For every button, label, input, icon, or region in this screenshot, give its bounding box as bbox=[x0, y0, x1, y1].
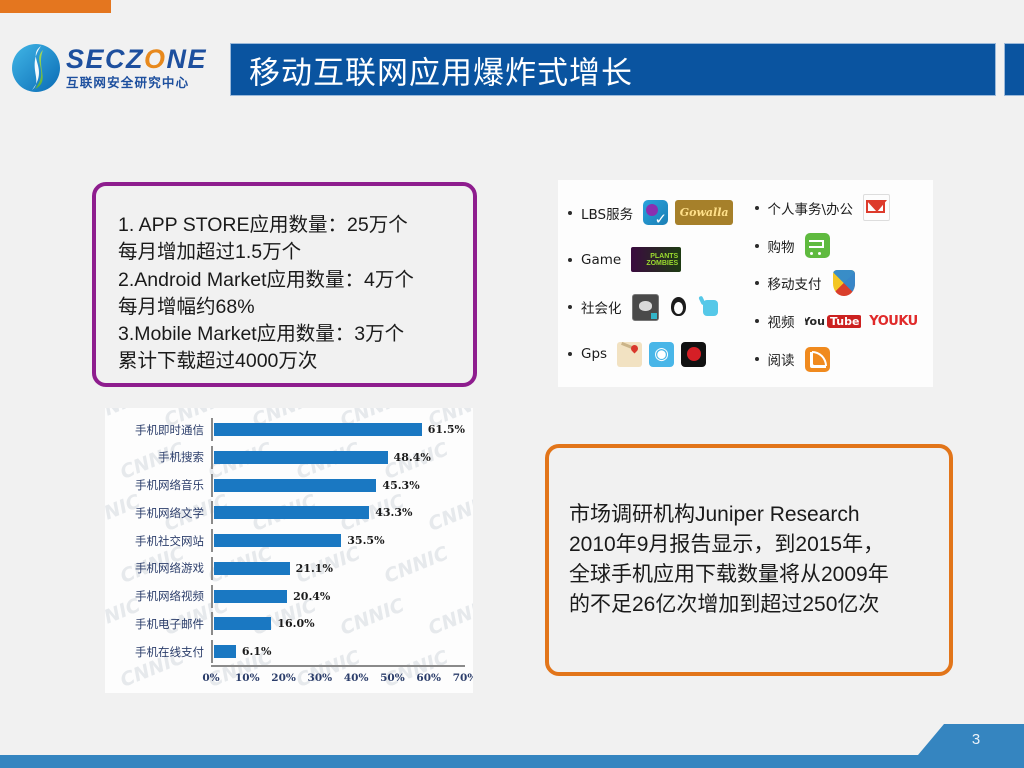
chart-bar-row: 手机网络文学43.3% bbox=[113, 501, 465, 524]
mobile-app-usage-chart: CNNICCNNICCNNICCNNICCNNICCNNICCNNICCNNIC… bbox=[105, 408, 473, 693]
rss-feed-icon bbox=[805, 347, 830, 372]
dianping-icon bbox=[681, 342, 706, 367]
app-category-left-column: LBS服务 Gowalla Game PLANTSZOMBIES 社会化 Gps… bbox=[568, 189, 741, 378]
shazam-glyph: ◉ bbox=[654, 346, 669, 363]
bullet-icon bbox=[755, 206, 759, 210]
plants-vs-zombies-icon: PLANTSZOMBIES bbox=[631, 247, 681, 272]
page-number: 3 bbox=[962, 731, 980, 748]
chart-category-label: 手机在线支付 bbox=[113, 644, 211, 660]
qq-penguin-icon bbox=[666, 295, 691, 320]
pvz-line2: ZOMBIES bbox=[646, 260, 678, 267]
stats-line: 1. APP STORE应用数量：25万个 bbox=[118, 212, 455, 239]
chart-x-tick: 70% bbox=[453, 672, 473, 684]
chart-bar-row: 手机网络游戏21.1% bbox=[113, 557, 465, 580]
app-category-row-reading: 阅读 bbox=[755, 342, 928, 376]
chart-bar bbox=[214, 423, 422, 436]
chart-bar-row: 手机网络视频20.4% bbox=[113, 585, 465, 608]
gowalla-logo: Gowalla bbox=[675, 200, 733, 225]
jiepang-robot-icon bbox=[698, 295, 723, 320]
bullet-icon bbox=[755, 357, 759, 361]
chart-plot-area: 手机即时通信61.5%手机搜索48.4%手机网络音乐45.3%手机网络文学43.… bbox=[113, 416, 465, 665]
chart-category-label: 手机网络音乐 bbox=[113, 477, 211, 493]
youku-logo: YOUKU bbox=[868, 309, 920, 334]
chart-bar-row: 手机在线支付6.1% bbox=[113, 640, 465, 663]
chart-value-label: 6.1% bbox=[242, 645, 272, 658]
quote-line: 的不足26亿次增加到超过250亿次 bbox=[569, 590, 889, 620]
chart-bar-track: 21.1% bbox=[211, 557, 465, 580]
chart-bar bbox=[214, 451, 388, 464]
bullet-icon bbox=[755, 281, 759, 285]
page-title: 移动互联网应用爆炸式增长 bbox=[249, 47, 633, 92]
chart-bar-track: 6.1% bbox=[211, 640, 465, 663]
gmail-icon bbox=[863, 194, 890, 221]
chart-bar bbox=[214, 506, 369, 519]
chart-value-label: 20.4% bbox=[293, 590, 330, 603]
chart-x-tick: 10% bbox=[235, 672, 260, 684]
chart-bar-row: 手机搜索48.4% bbox=[113, 446, 465, 469]
chart-bar-track: 35.5% bbox=[211, 529, 465, 552]
bullet-icon bbox=[755, 319, 759, 323]
chart-category-label: 手机网络视频 bbox=[113, 588, 211, 604]
map-pin-icon bbox=[617, 342, 642, 367]
wordmark-part1: SECZ bbox=[66, 44, 144, 74]
bullet-icon bbox=[755, 244, 759, 248]
footer-bar bbox=[0, 755, 1024, 768]
app-category-label: Gps bbox=[581, 346, 607, 362]
app-category-row-lbs: LBS服务 Gowalla bbox=[568, 196, 741, 230]
pvz-line1: PLANTS bbox=[646, 253, 678, 260]
chart-category-label: 手机网络游戏 bbox=[113, 560, 211, 576]
app-category-label: 视频 bbox=[768, 311, 795, 331]
seczone-swirl-icon bbox=[10, 41, 62, 95]
chart-bar-track: 45.3% bbox=[211, 474, 465, 497]
chart-category-label: 手机电子邮件 bbox=[113, 616, 211, 632]
quote-text-block: 市场调研机构Juniper Research 2010年9月报告显示，到2015… bbox=[569, 500, 889, 619]
chart-value-label: 16.0% bbox=[277, 617, 314, 630]
app-category-row-payment: 移动支付 bbox=[755, 266, 928, 300]
chart-category-label: 手机网络文学 bbox=[113, 505, 211, 521]
youtube-logo: YouTube bbox=[805, 309, 861, 334]
chart-category-label: 手机即时通信 bbox=[113, 422, 211, 438]
chart-bar-row: 手机社交网站35.5% bbox=[113, 529, 465, 552]
bullet-icon bbox=[568, 305, 572, 309]
page-number-tab: 3 bbox=[918, 724, 1024, 755]
chart-category-label: 手机社交网站 bbox=[113, 533, 211, 549]
quote-line: 全球手机应用下载数量将从2009年 bbox=[569, 560, 889, 590]
app-category-label: 阅读 bbox=[768, 349, 795, 369]
chart-x-tick: 20% bbox=[271, 672, 296, 684]
header-right-accent-block bbox=[1004, 43, 1024, 96]
chart-bar-track: 48.4% bbox=[211, 446, 465, 469]
chart-bar bbox=[214, 590, 287, 603]
chart-bar-track: 61.5% bbox=[211, 418, 465, 441]
wordmark-part2: NE bbox=[167, 44, 208, 74]
app-category-right-column: 个人事务\办公 购物 移动支付 视频 YouTube YOUKU 阅读 bbox=[741, 189, 928, 378]
app-category-label: LBS服务 bbox=[581, 203, 633, 223]
wordmark-accent-o: O bbox=[144, 44, 167, 74]
app-category-label: Game bbox=[581, 252, 621, 268]
shopping-cart-icon bbox=[805, 233, 830, 258]
shazam-icon: ◉ bbox=[649, 342, 674, 367]
app-category-row-video: 视频 YouTube YOUKU bbox=[755, 304, 928, 338]
app-category-panel: LBS服务 Gowalla Game PLANTSZOMBIES 社会化 Gps… bbox=[558, 180, 933, 387]
seczone-wordmark: SECZONE bbox=[66, 46, 207, 73]
youtube-tube-text: Tube bbox=[827, 315, 861, 328]
chart-value-label: 45.3% bbox=[382, 479, 419, 492]
foursquare-icon bbox=[643, 200, 668, 225]
seczone-logo: SECZONE 互联网安全研究中心 bbox=[10, 39, 222, 97]
stats-line: 累计下载超过4000万次 bbox=[118, 348, 455, 375]
app-category-label: 移动支付 bbox=[768, 273, 822, 293]
stats-line: 2.Android Market应用数量：4万个 bbox=[118, 267, 455, 294]
chart-bar bbox=[214, 645, 236, 658]
app-category-row-social: 社会化 bbox=[568, 290, 741, 324]
chart-x-tick: 40% bbox=[344, 672, 369, 684]
chart-bar-track: 20.4% bbox=[211, 585, 465, 608]
chart-bar bbox=[214, 479, 376, 492]
bullet-icon bbox=[568, 211, 572, 215]
chart-bar-row: 手机即时通信61.5% bbox=[113, 418, 465, 441]
quote-line: 市场调研机构Juniper Research bbox=[569, 500, 889, 530]
chart-value-label: 48.4% bbox=[394, 451, 431, 464]
app-category-row-gps: Gps ◉ bbox=[568, 337, 741, 371]
chart-value-label: 35.5% bbox=[347, 534, 384, 547]
bullet-icon bbox=[568, 352, 572, 356]
top-left-orange-accent bbox=[0, 0, 111, 13]
stats-line: 3.Mobile Market应用数量：3万个 bbox=[118, 321, 455, 348]
chart-bar bbox=[214, 562, 290, 575]
juniper-research-quote-box: 市场调研机构Juniper Research 2010年9月报告显示，到2015… bbox=[545, 444, 953, 676]
app-category-label: 社会化 bbox=[581, 297, 622, 317]
chart-bar-track: 16.0% bbox=[211, 612, 465, 635]
shield-payment-icon bbox=[832, 270, 856, 297]
app-store-stats-box: 1. APP STORE应用数量：25万个 每月增加超过1.5万个 2.Andr… bbox=[92, 182, 477, 387]
quote-line: 2010年9月报告显示，到2015年， bbox=[569, 530, 889, 560]
chart-value-label: 21.1% bbox=[296, 562, 333, 575]
chart-bar-row: 手机电子邮件16.0% bbox=[113, 612, 465, 635]
stats-line: 每月增加超过1.5万个 bbox=[118, 239, 455, 266]
slide-title-bar: 移动互联网应用爆炸式增长 bbox=[230, 43, 996, 96]
chart-category-label: 手机搜索 bbox=[113, 449, 211, 465]
chart-x-tick: 30% bbox=[308, 672, 333, 684]
app-category-row-shopping: 购物 bbox=[755, 229, 928, 263]
chart-bar bbox=[214, 534, 341, 547]
stats-line: 每月增幅约68% bbox=[118, 294, 455, 321]
seczone-subtitle: 互联网安全研究中心 bbox=[66, 77, 207, 90]
chart-x-tick: 60% bbox=[416, 672, 441, 684]
app-category-row-office: 个人事务\办公 bbox=[755, 191, 928, 225]
app-category-label: 购物 bbox=[768, 236, 795, 256]
slide-header: SECZONE 互联网安全研究中心 移动互联网应用爆炸式增长 bbox=[0, 33, 1024, 101]
chart-inner: 手机即时通信61.5%手机搜索48.4%手机网络音乐45.3%手机网络文学43.… bbox=[105, 408, 473, 693]
kaixin-icon bbox=[632, 294, 659, 321]
chart-value-label: 61.5% bbox=[428, 423, 465, 436]
bullet-icon bbox=[568, 258, 572, 262]
app-category-row-game: Game PLANTSZOMBIES bbox=[568, 243, 741, 277]
youtube-you-text: You bbox=[805, 315, 825, 328]
chart-bar bbox=[214, 617, 271, 630]
chart-bar-row: 手机网络音乐45.3% bbox=[113, 474, 465, 497]
rss-arc bbox=[812, 351, 827, 366]
chart-x-tick: 50% bbox=[380, 672, 405, 684]
chart-x-tick: 0% bbox=[202, 672, 219, 684]
app-category-label: 个人事务\办公 bbox=[768, 198, 854, 218]
chart-value-label: 43.3% bbox=[375, 506, 412, 519]
chart-bar-track: 43.3% bbox=[211, 501, 465, 524]
chart-x-axis-ticks: 0%10%20%30%40%50%60%70% bbox=[211, 667, 465, 689]
